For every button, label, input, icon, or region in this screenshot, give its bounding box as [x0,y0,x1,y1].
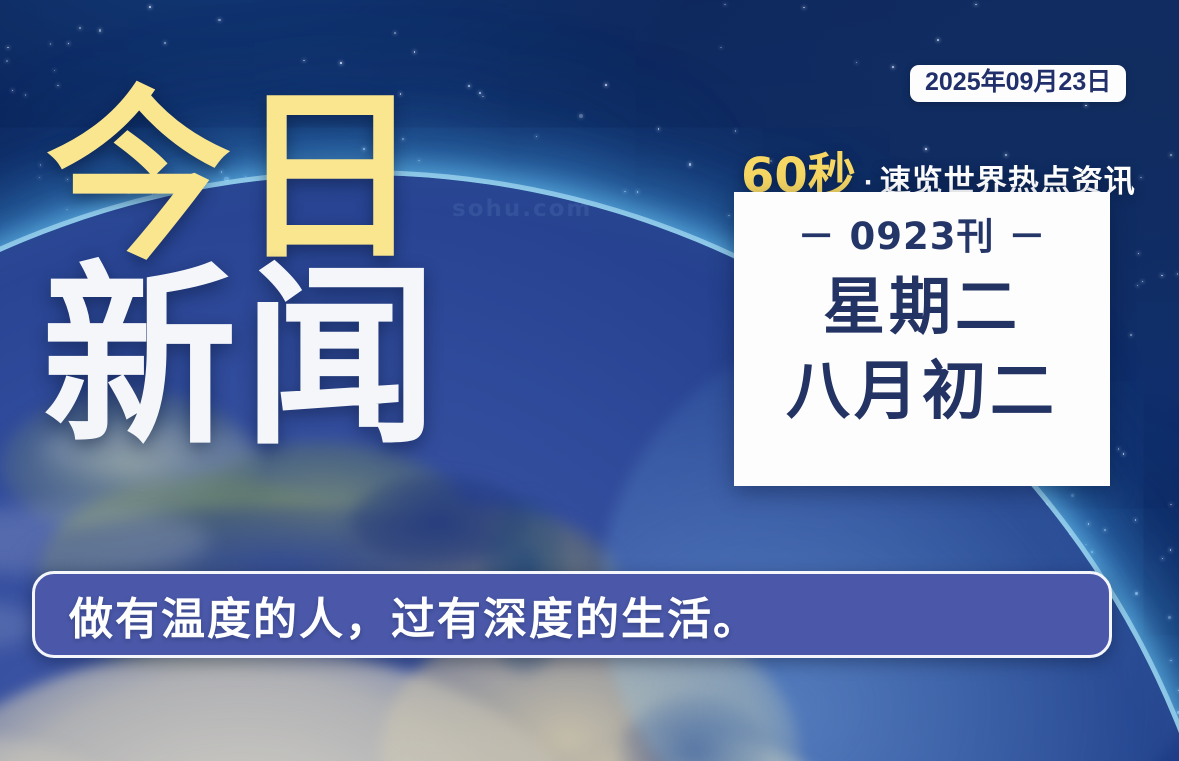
lunar-date-label: 八月初二 [786,359,1058,426]
background-watermark: sohu.com [452,196,592,222]
weekday-label: 星期二 [823,274,1021,339]
title-line-jinri: 今日 [46,92,444,262]
news-poster: sohu.com 今日 新闻 2025年09月23日 60秒 · 速览世界热点资… [0,0,1179,761]
issue-number: － 0923刊 － [798,206,1047,260]
date-badge: 2025年09月23日 [910,65,1126,102]
title-line-xinwen: 新闻 [42,268,444,447]
slogan-banner: 做有温度的人，过有深度的生活。 [32,571,1112,658]
slogan-text: 做有温度的人，过有深度的生活。 [69,583,759,647]
poster-title: 今日 新闻 [46,92,444,448]
date-info-card: － 0923刊 － 星期二 八月初二 [734,192,1110,486]
